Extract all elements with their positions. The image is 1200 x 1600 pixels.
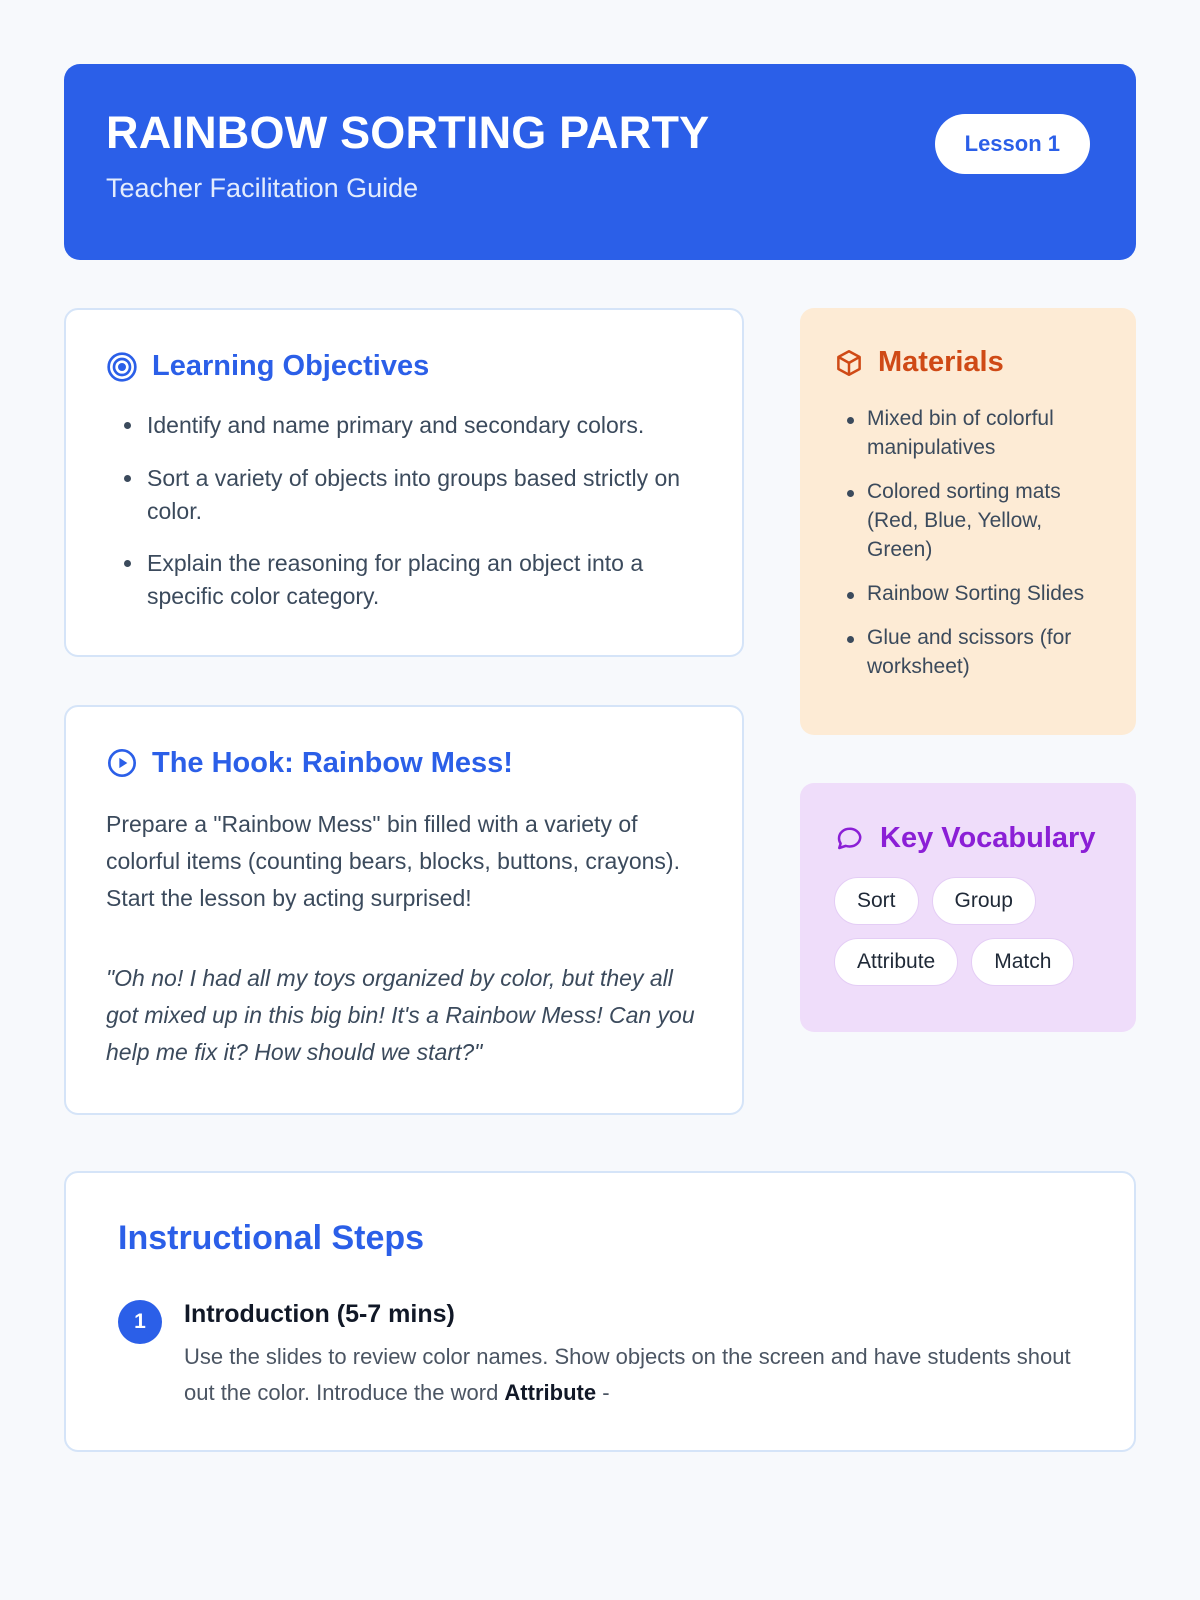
- hook-quote: "Oh no! I had all my toys organized by c…: [106, 960, 702, 1072]
- instructional-steps-card: Instructional Steps 1 Introduction (5-7 …: [64, 1171, 1136, 1451]
- hook-title: The Hook: Rainbow Mess!: [152, 747, 513, 780]
- step-heading: Introduction (5-7 mins): [184, 1300, 1090, 1329]
- list-item: Mixed bin of colorful manipulatives: [834, 405, 1106, 463]
- play-circle-icon: [106, 747, 138, 779]
- step-number-badge: 1: [118, 1300, 162, 1344]
- speech-bubble-icon: [834, 823, 864, 853]
- list-item: Glue and scissors (for worksheet): [834, 624, 1106, 682]
- lesson-guide-page: RAINBOW SORTING PARTY Teacher Facilitati…: [0, 0, 1200, 1600]
- header-text-group: RAINBOW SORTING PARTY Teacher Facilitati…: [106, 108, 709, 204]
- step-content: Introduction (5-7 mins) Use the slides t…: [184, 1298, 1090, 1409]
- list-item: Sort a variety of objects into groups ba…: [106, 462, 702, 527]
- content-grid: Learning Objectives Identify and name pr…: [64, 308, 1136, 1115]
- step-item: 1 Introduction (5-7 mins) Use the slides…: [118, 1298, 1090, 1409]
- step-text-after: -: [596, 1380, 609, 1405]
- hook-header: The Hook: Rainbow Mess!: [106, 747, 702, 780]
- list-item: Colored sorting mats (Red, Blue, Yellow,…: [834, 478, 1106, 565]
- learning-objectives-title: Learning Objectives: [152, 350, 429, 383]
- page-title: RAINBOW SORTING PARTY: [106, 108, 709, 158]
- vocabulary-chip[interactable]: Sort: [834, 877, 919, 925]
- key-vocabulary-title: Key Vocabulary: [880, 821, 1095, 855]
- list-item: Rainbow Sorting Slides: [834, 580, 1106, 609]
- step-text-before: Use the slides to review color names. Sh…: [184, 1344, 1071, 1404]
- hook-card: The Hook: Rainbow Mess! Prepare a "Rainb…: [64, 705, 744, 1116]
- step-text-bold-term: Attribute: [504, 1380, 596, 1405]
- materials-title: Materials: [878, 346, 1004, 379]
- key-vocabulary-header: Key Vocabulary: [834, 821, 1106, 855]
- learning-objectives-list: Identify and name primary and secondary …: [106, 409, 702, 612]
- instructional-steps-title: Instructional Steps: [118, 1219, 1090, 1258]
- target-icon: [106, 351, 138, 383]
- page-header: RAINBOW SORTING PARTY Teacher Facilitati…: [64, 64, 1136, 260]
- list-item: Identify and name primary and secondary …: [106, 409, 702, 442]
- page-subtitle: Teacher Facilitation Guide: [106, 172, 709, 204]
- vocabulary-chip[interactable]: Match: [971, 938, 1074, 986]
- materials-card: Materials Mixed bin of colorful manipula…: [800, 308, 1136, 735]
- lesson-badge[interactable]: Lesson 1: [935, 114, 1090, 174]
- list-item: Explain the reasoning for placing an obj…: [106, 547, 702, 612]
- main-column: Learning Objectives Identify and name pr…: [64, 308, 744, 1115]
- learning-objectives-card: Learning Objectives Identify and name pr…: [64, 308, 744, 657]
- hook-paragraph: Prepare a "Rainbow Mess" bin filled with…: [106, 806, 702, 918]
- vocabulary-chip-list: Sort Group Attribute Match: [834, 877, 1106, 986]
- step-description: Use the slides to review color names. Sh…: [184, 1339, 1090, 1409]
- vocabulary-chip[interactable]: Attribute: [834, 938, 958, 986]
- learning-objectives-header: Learning Objectives: [106, 350, 702, 383]
- sidebar-column: Materials Mixed bin of colorful manipula…: [800, 308, 1136, 1032]
- materials-header: Materials: [834, 346, 1106, 379]
- vocabulary-chip[interactable]: Group: [932, 877, 1036, 925]
- key-vocabulary-card: Key Vocabulary Sort Group Attribute Matc…: [800, 783, 1136, 1032]
- materials-list: Mixed bin of colorful manipulatives Colo…: [834, 405, 1106, 682]
- box-icon: [834, 348, 864, 378]
